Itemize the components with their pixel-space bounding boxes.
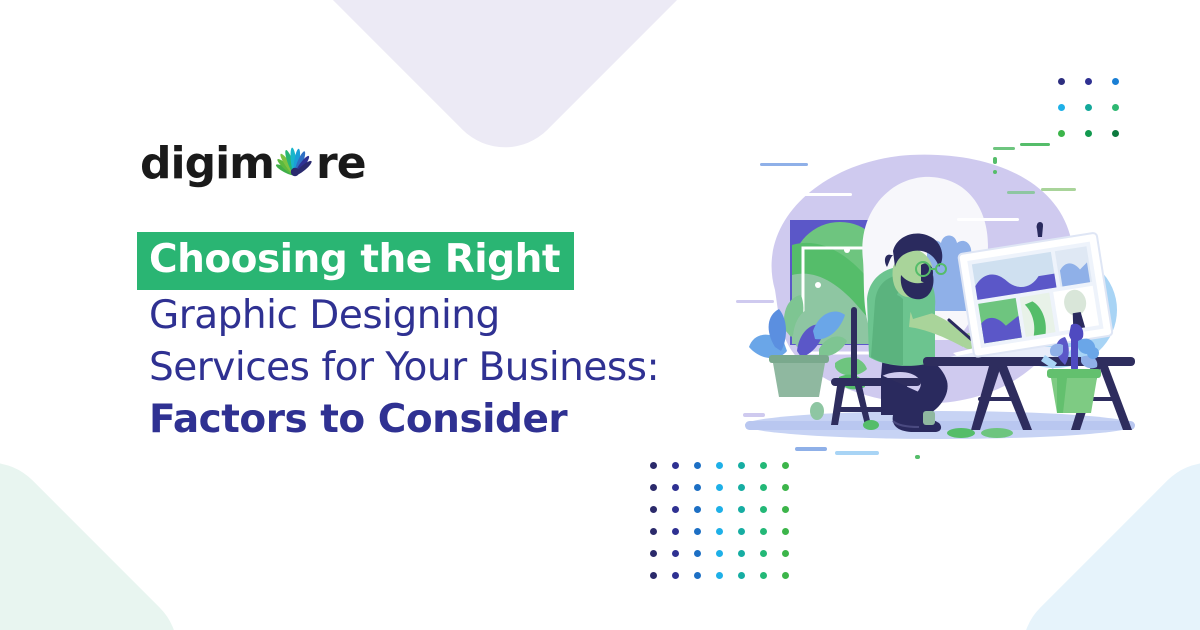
grid-dot — [1112, 78, 1119, 85]
grid-dot — [650, 462, 657, 469]
grid-dot — [672, 550, 679, 557]
grid-dot — [1112, 104, 1119, 111]
grid-dot — [782, 572, 789, 579]
grid-dot — [694, 462, 701, 469]
headline-block: Choosing the Right Graphic Designing Ser… — [137, 232, 737, 446]
grid-dot — [694, 572, 701, 579]
grid-dot — [1085, 104, 1092, 111]
grid-dot — [760, 550, 767, 557]
grid-dot — [738, 572, 745, 579]
grid-dot — [694, 506, 701, 513]
grid-dot — [782, 528, 789, 535]
grid-dot — [716, 484, 723, 491]
logo-text-left: digim — [140, 142, 274, 186]
decorative-square-bottom-left — [0, 438, 202, 630]
grid-dot — [650, 484, 657, 491]
grid-dot — [738, 484, 745, 491]
grid-dot — [738, 506, 745, 513]
grid-dot — [782, 550, 789, 557]
grid-dot — [672, 484, 679, 491]
designer-at-desk-illustration — [735, 125, 1155, 475]
grid-dot — [650, 506, 657, 513]
grid-dot — [782, 484, 789, 491]
grid-dot — [760, 484, 767, 491]
grid-dot — [650, 550, 657, 557]
grid-dot — [716, 572, 723, 579]
grid-dot — [694, 528, 701, 535]
grid-dot — [672, 528, 679, 535]
grid-dot — [716, 528, 723, 535]
blog-banner: digim re Choosing the R — [0, 0, 1200, 630]
brand-logo[interactable]: digim re — [140, 140, 366, 188]
grid-dot — [782, 506, 789, 513]
headline-line-3: Services for Your Business: — [137, 342, 737, 394]
grid-dot — [694, 550, 701, 557]
grid-dot — [672, 572, 679, 579]
grid-dot — [760, 506, 767, 513]
headline-line-1-wrap: Choosing the Right — [137, 232, 737, 290]
headline-line-1: Choosing the Right — [137, 232, 574, 290]
peacock-fan-icon — [275, 144, 315, 184]
grid-dot — [1058, 104, 1065, 111]
grid-dot — [738, 550, 745, 557]
headline-line-4: Factors to Consider — [137, 394, 737, 446]
grid-dot — [716, 462, 723, 469]
grid-dot — [716, 550, 723, 557]
grid-dot — [650, 572, 657, 579]
grid-dot — [738, 528, 745, 535]
dot-grid-large — [650, 462, 804, 594]
grid-dot — [672, 462, 679, 469]
grid-dot — [650, 528, 657, 535]
grid-dot — [672, 506, 679, 513]
grid-dot — [760, 528, 767, 535]
grid-dot — [1058, 78, 1065, 85]
grid-dot — [1085, 78, 1092, 85]
grid-dot — [694, 484, 701, 491]
headline-line-2: Graphic Designing — [137, 290, 737, 342]
grid-dot — [760, 572, 767, 579]
grid-dot — [716, 506, 723, 513]
logo-text-right: re — [316, 142, 366, 186]
